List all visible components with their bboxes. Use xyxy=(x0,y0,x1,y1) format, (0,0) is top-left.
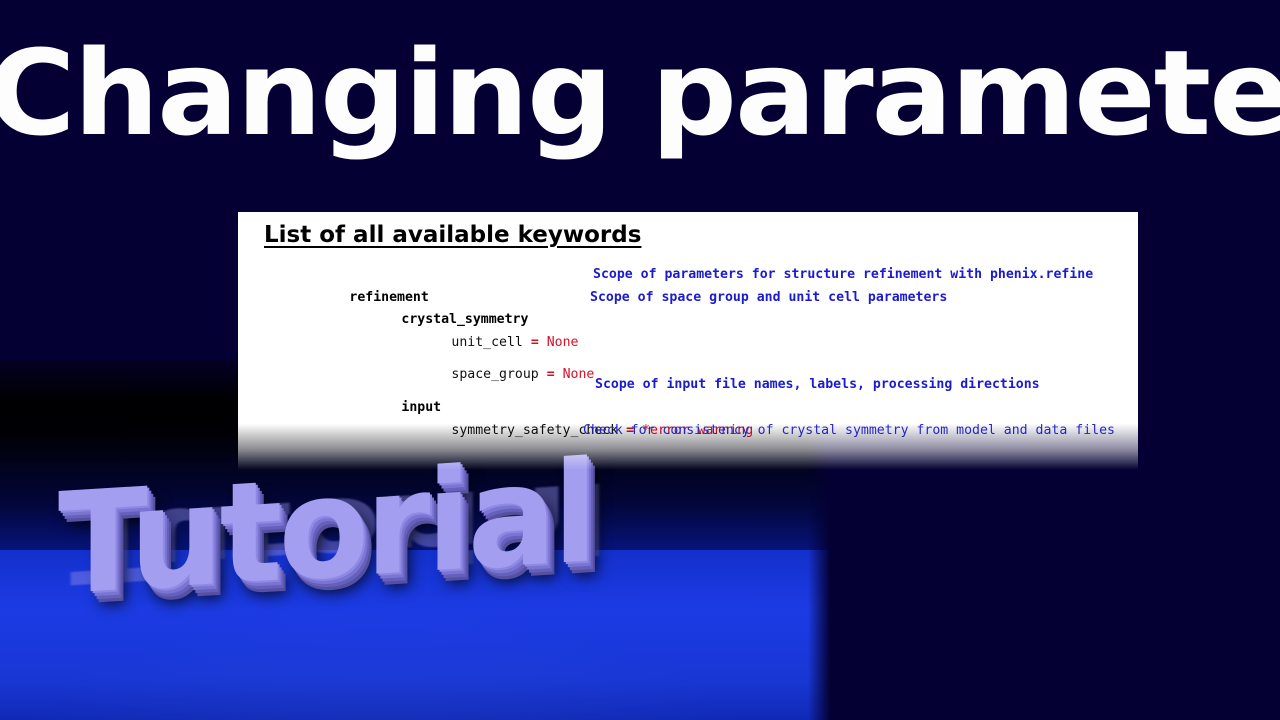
keyword-description: Scope of input file names, labels, proce… xyxy=(595,374,1040,397)
keyword-row: input Scope of input file names, labels,… xyxy=(238,374,1138,397)
presentation-slide: Tutorial Tutorial Changing parameters Li… xyxy=(0,0,1280,720)
keyword-panel: List of all available keywords refinemen… xyxy=(238,212,1138,470)
keyword-row: symmetry_safety_check = *error warning xyxy=(238,397,1138,420)
keyword-row: space_group = None xyxy=(238,342,1138,365)
keyword-row: refinement Scope of parameters for struc… xyxy=(238,264,1138,287)
keyword-list: refinement Scope of parameters for struc… xyxy=(238,264,1138,497)
page-title: Changing parameters xyxy=(0,34,1280,152)
keyword-row: unit_cell = None xyxy=(238,309,1138,332)
keyword-row: Check for consistency of crystal symmetr… xyxy=(238,420,1138,443)
keyword-description: Scope of space group and unit cell param… xyxy=(590,287,947,310)
keyword-description: Check for consistency of crystal symmetr… xyxy=(583,420,1115,443)
keyword-description: Scope of parameters for structure refine… xyxy=(593,264,1093,287)
panel-heading: List of all available keywords xyxy=(264,222,641,248)
keyword-row: crystal_symmetry Scope of space group an… xyxy=(238,287,1138,310)
